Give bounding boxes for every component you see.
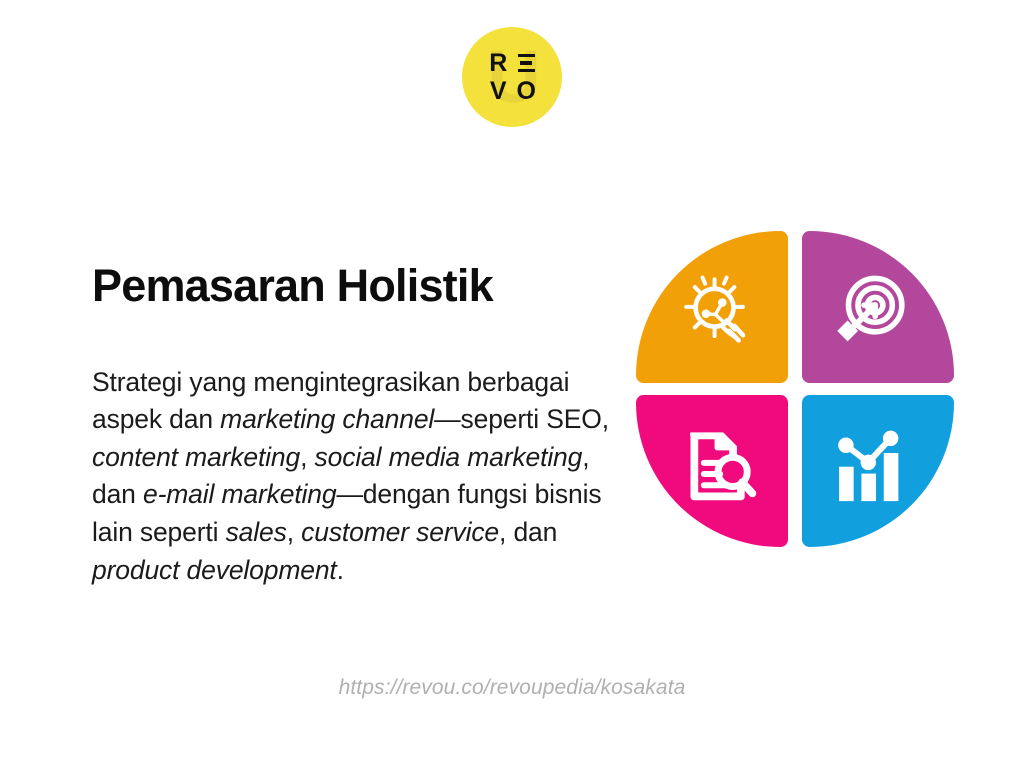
body-paragraph: Strategi yang mengintegrasikan berbagai … <box>92 364 632 590</box>
quadrant-top-right[interactable] <box>802 231 954 383</box>
document-search-icon <box>675 422 761 508</box>
target-arrow-icon <box>827 269 913 355</box>
logo-bar-bottom <box>518 69 535 73</box>
body-run-9: sales <box>226 517 287 547</box>
quadrant-top-left[interactable] <box>636 231 788 383</box>
body-run-13: product development <box>92 555 337 585</box>
quadrant-bottom-right[interactable] <box>802 395 954 547</box>
footer-url[interactable]: https://revou.co/revoupedia/kosakata <box>0 676 1024 700</box>
body-run-5: social media marketing <box>315 442 583 472</box>
logo-letter-grid: R V O <box>484 49 540 105</box>
body-run-3: content marketing <box>92 442 300 472</box>
logo-letter-v: V <box>484 77 512 105</box>
logo-bar-middle <box>520 61 532 65</box>
body-run-7: e-mail marketing <box>143 479 336 509</box>
four-quadrant-circle-diagram <box>636 231 954 547</box>
logo-bar-top <box>518 54 535 58</box>
lightbulb-icon <box>675 269 761 355</box>
body-run-2: —seperti SEO, <box>434 404 609 434</box>
logo-letter-o: O <box>512 77 540 105</box>
body-run-11: customer service <box>301 517 499 547</box>
revou-logo: U R V O <box>462 27 562 127</box>
bar-chart-icon <box>827 422 913 508</box>
body-run-12: , dan <box>499 517 557 547</box>
page-title: Pemasaran Holistik <box>92 262 493 311</box>
body-run-1: marketing channel <box>220 404 434 434</box>
body-run-14: . <box>337 555 344 585</box>
body-run-4: , <box>300 442 314 472</box>
body-run-10: , <box>287 517 301 547</box>
quadrant-bottom-left[interactable] <box>636 395 788 547</box>
logo-letter-e-bars <box>512 49 540 77</box>
logo-letter-r: R <box>484 49 512 77</box>
